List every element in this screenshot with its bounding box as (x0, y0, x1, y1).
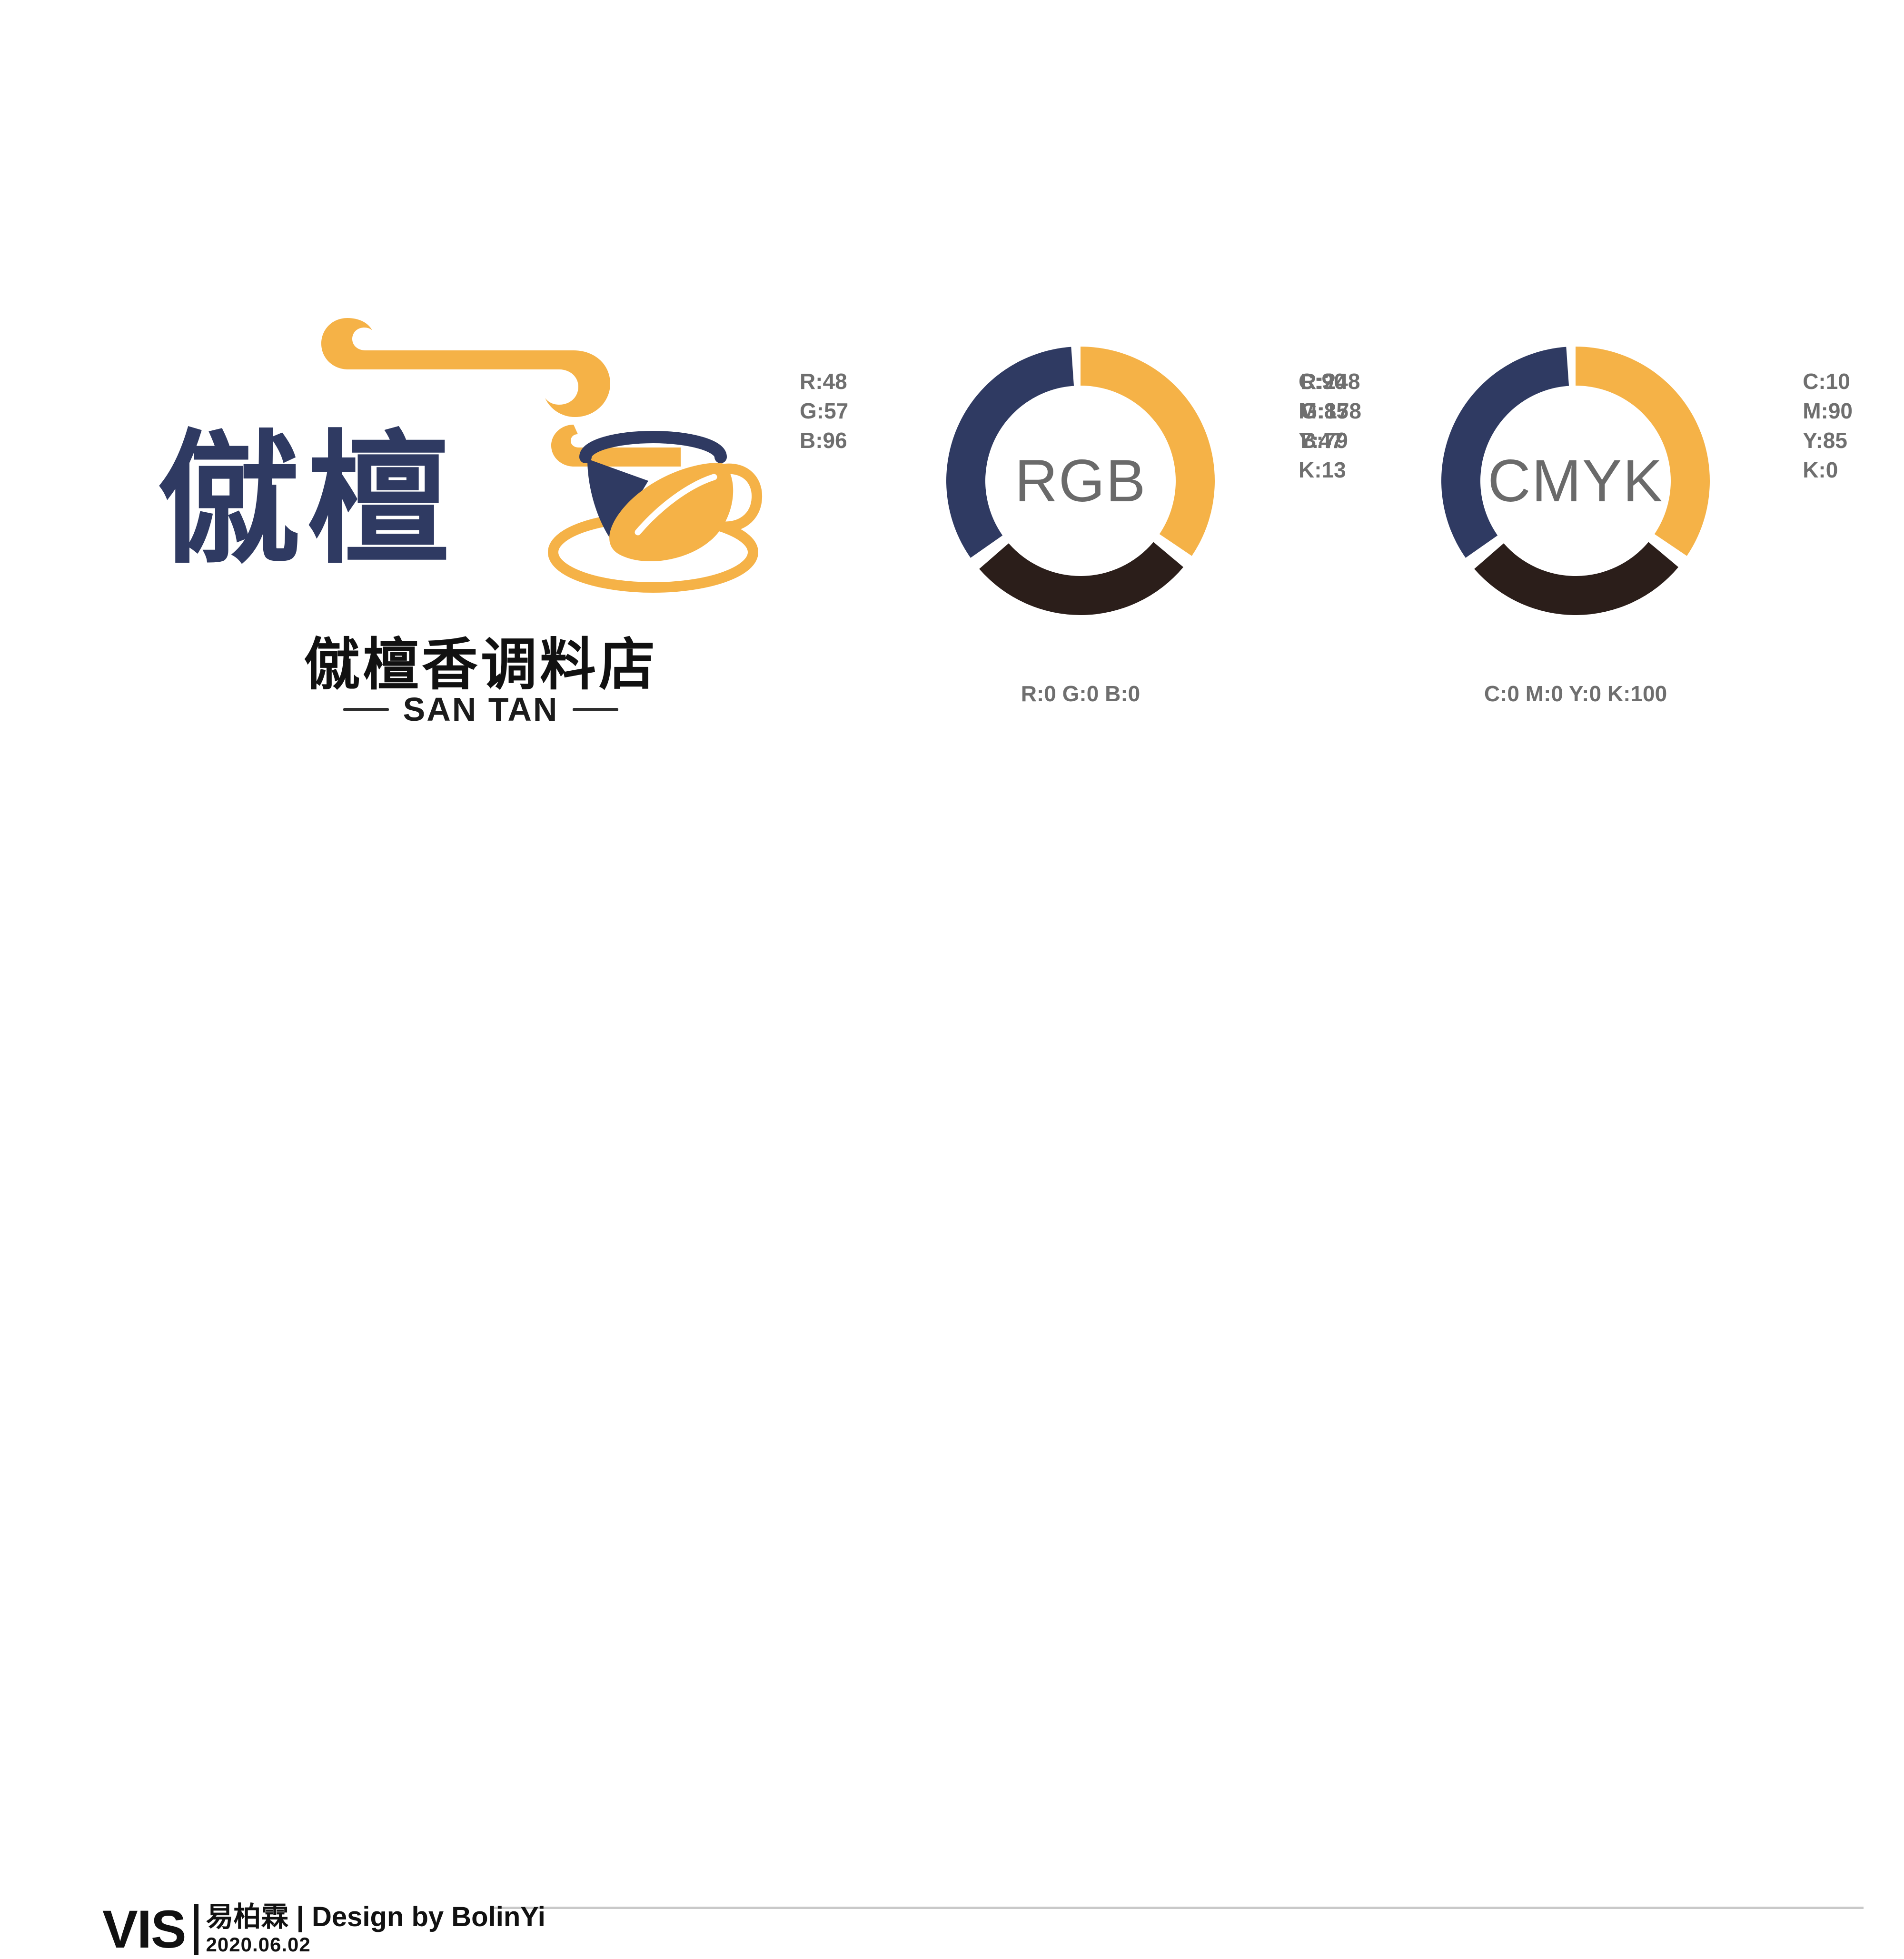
dash-right-icon (573, 708, 618, 711)
logo-latin-name: SAN TAN (403, 690, 559, 728)
cmyk-note-navy: C:90 M:85 Y:47 K:13 (1299, 367, 1349, 485)
logo-wordmark: 僦檀 (157, 400, 576, 600)
logo-subtitle: 僦檀香调料店 (143, 619, 819, 700)
cmyk-donut-chart: CMYK (1428, 333, 1723, 628)
cmyk-note-orange: C:10 M:90 Y:85 K:0 (1803, 367, 1853, 485)
donut-segment-orange (1576, 347, 1710, 556)
slide-canvas: 僦檀 僦檀香调料店 SAN TAN R:48 G:57 B:96 R:248 G… (0, 0, 1904, 1071)
footer-text-column: 易柏霖 | Design by BolinYi 2020.06.02 (206, 1902, 545, 1957)
rgb-color-wheel-group: R:48 G:57 B:96 R:248 G:178 B:79 RGB R:0 … (800, 328, 1361, 747)
footer-vis-label: VIS (102, 1903, 186, 1956)
footer-separator-icon (194, 1904, 198, 1955)
donut-segment-orange (1081, 347, 1215, 556)
dash-left-icon (343, 708, 389, 711)
rgb-note-navy: R:48 G:57 B:96 (800, 367, 848, 455)
rgb-note-black: R:0 G:0 B:0 (800, 681, 1361, 706)
footer-divider (493, 1907, 1864, 1909)
donut-segment-black (1474, 542, 1678, 615)
slide-footer: VIS 易柏霖 | Design by BolinYi 2020.06.02 (0, 933, 1904, 1071)
rgb-donut-chart: RGB (933, 333, 1228, 628)
brand-logo-block: 僦檀 僦檀香调料店 SAN TAN (143, 257, 819, 762)
donut-segment-navy (1441, 347, 1569, 558)
donut-segment-black (979, 542, 1183, 615)
logo-latin-row: SAN TAN (143, 690, 819, 728)
footer-date: 2020.06.02 (206, 1932, 545, 1957)
footer-credit-badge: VIS 易柏霖 | Design by BolinYi 2020.06.02 (102, 1902, 545, 1957)
donut-segment-navy (946, 347, 1074, 558)
cmyk-color-wheel-group: C:90 M:85 Y:47 K:13 C:10 M:90 Y:85 K:0 C… (1295, 328, 1856, 747)
cmyk-note-black: C:0 M:0 Y:0 K:100 (1295, 681, 1856, 706)
footer-credit: 易柏霖 | Design by BolinYi (206, 1902, 545, 1932)
